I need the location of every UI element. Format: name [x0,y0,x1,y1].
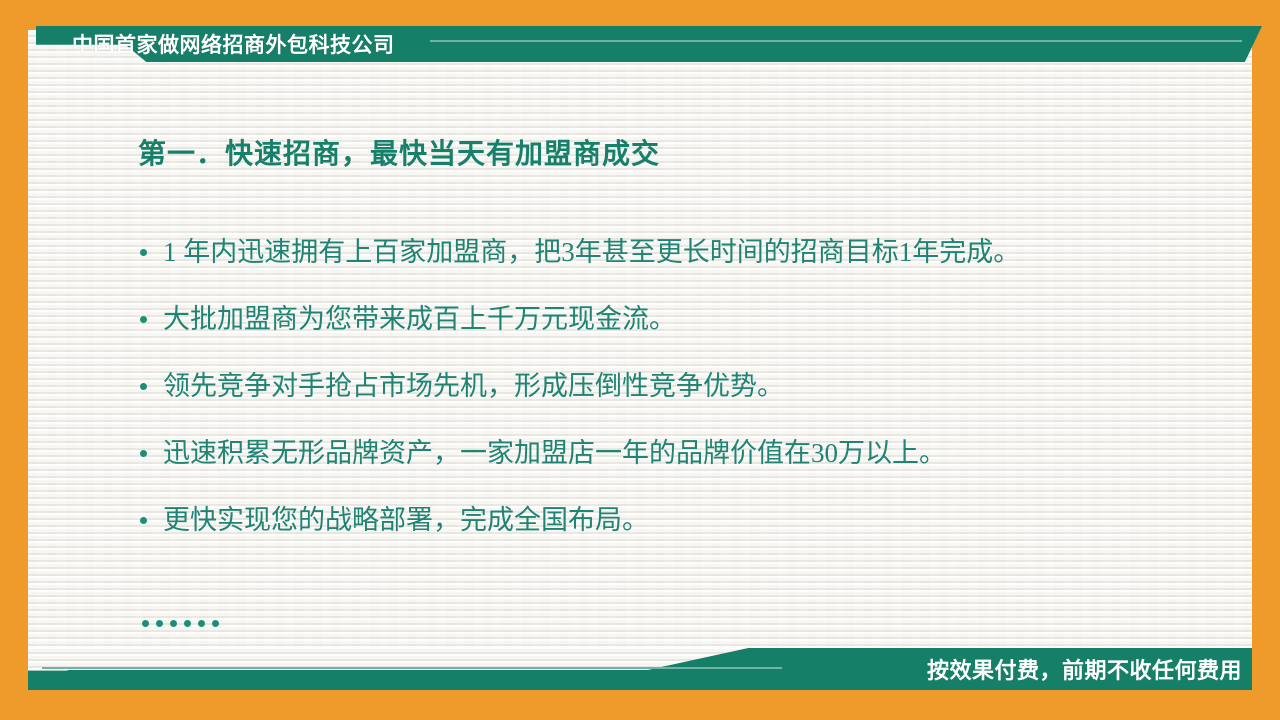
header-hairline-divider [430,40,1242,42]
list-item: 1 年内迅速拥有上百家加盟商，把3年甚至更长时间的招商目标1年完成。 [140,232,1210,272]
ellipsis-dot-icon [212,620,219,627]
list-item: 更快实现您的战略部署，完成全国布局。 [140,500,1210,540]
continuation-ellipsis [142,620,219,627]
list-item-text: 1 年内迅速拥有上百家加盟商，把3年甚至更长时间的招商目标1年完成。 [163,232,1020,272]
bullet-dot-icon [140,316,147,323]
list-item-text: 迅速积累无形品牌资产，一家加盟店一年的品牌价值在30万以上。 [163,433,946,473]
list-item: 领先竞争对手抢占市场先机，形成压倒性竞争优势。 [140,366,1210,406]
bullet-dot-icon [140,517,147,524]
ellipsis-dot-icon [142,620,149,627]
list-item-text: 大批加盟商为您带来成百上千万元现金流。 [163,299,676,339]
list-item-text: 领先竞争对手抢占市场先机，形成压倒性竞争优势。 [163,366,784,406]
ellipsis-dot-icon [198,620,205,627]
footer-tagline: 按效果付费，前期不收任何费用 [927,648,1242,690]
bullet-dot-icon [140,450,147,457]
bullet-dot-icon [140,383,147,390]
footer-hairline-divider [42,667,782,669]
ellipsis-dot-icon [156,620,163,627]
section-heading: 第一．快速招商，最快当天有加盟商成交 [138,132,660,172]
list-item: 大批加盟商为您带来成百上千万元现金流。 [140,299,1210,339]
presentation-slide: 中国首家做网络招商外包科技公司 第一．快速招商，最快当天有加盟商成交 1 年内迅… [0,0,1280,720]
bullet-dot-icon [140,249,147,256]
ellipsis-dot-icon [184,620,191,627]
header-title-text: 中国首家做网络招商外包科技公司 [72,29,395,59]
list-item: 迅速积累无形品牌资产，一家加盟店一年的品牌价值在30万以上。 [140,433,1210,473]
bullet-list: 1 年内迅速拥有上百家加盟商，把3年甚至更长时间的招商目标1年完成。 大批加盟商… [140,232,1210,567]
list-item-text: 更快实现您的战略部署，完成全国布局。 [163,500,649,540]
header-title: 中国首家做网络招商外包科技公司 [36,26,395,62]
ellipsis-dot-icon [170,620,177,627]
